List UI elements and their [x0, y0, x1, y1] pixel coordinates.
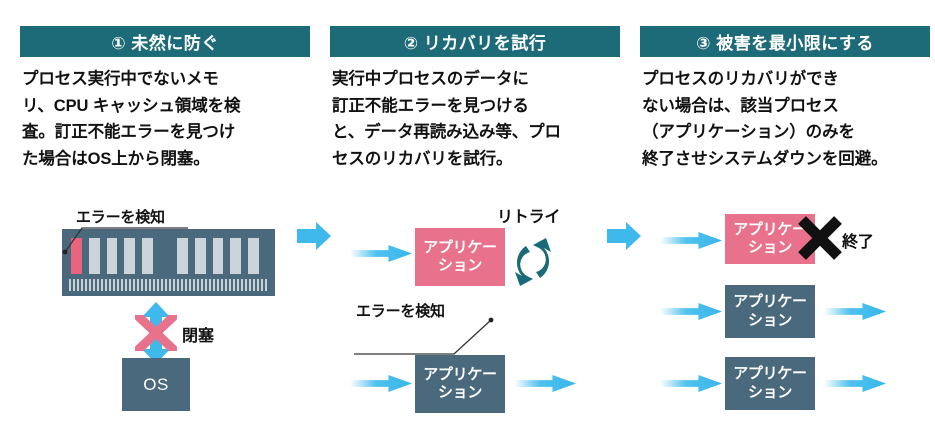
app-box-line-2: ション	[748, 384, 792, 402]
app-box-line-2: ション	[438, 257, 482, 275]
os-box: OS	[122, 358, 190, 411]
app-box-normal-col3-row3: アプリケー ション	[725, 357, 815, 410]
app-box-normal-col3-row2: アプリケー ション	[725, 285, 815, 338]
app-box-line-1: アプリケー	[733, 293, 807, 311]
app-box-line-1: アプリケー	[423, 366, 497, 384]
app-box-line-2: ション	[748, 312, 792, 330]
app-box-line-2: ション	[438, 384, 482, 402]
app-box-line-1: アプリケー	[733, 365, 807, 383]
diagram-canvas: ① 未然に防ぐ プロセス実行中でないメモ リ、CPU キャッシュ領域を検 査。訂…	[0, 0, 935, 443]
column-1-body: プロセス実行中でないメモ リ、CPU キャッシュ領域を検 査。訂正不能エラーを見…	[22, 66, 310, 173]
memory-chip	[248, 238, 259, 274]
memory-chip	[230, 238, 241, 274]
memory-chip	[195, 238, 206, 274]
blocked-label: 閉塞	[182, 322, 214, 346]
column-1-header: ① 未然に防ぐ	[20, 26, 310, 57]
memory-connector-pins	[69, 279, 268, 291]
terminate-x-icon	[796, 216, 844, 260]
column-3-body: プロセスのリカバリができ ない場合は、該当プロセス （アプリケーション）のみを …	[642, 66, 930, 173]
column-3-header: ③ 被害を最小限にする	[640, 26, 930, 57]
memory-chip	[213, 238, 224, 274]
error-detect-leader-line-col2	[354, 318, 494, 356]
retry-label: リトライ	[497, 203, 560, 227]
blocked-x-icon	[135, 315, 177, 351]
terminate-label: 終了	[842, 228, 873, 252]
retry-circular-arrows-icon	[502, 232, 564, 292]
app-box-line-1: アプリケー	[423, 239, 497, 257]
app-box-normal-col2: アプリケー ション	[415, 355, 505, 413]
error-detect-leader-line-col1	[60, 222, 190, 254]
app-box-error-col2: アプリケー ション	[415, 228, 505, 286]
column-2-header: ② リカバリを試行	[330, 26, 620, 57]
column-2-body: 実行中プロセスのデータに 訂正不能エラーを見つける と、データ再読み込み等、プロ…	[332, 66, 620, 173]
app-box-line-2: ション	[748, 239, 792, 257]
